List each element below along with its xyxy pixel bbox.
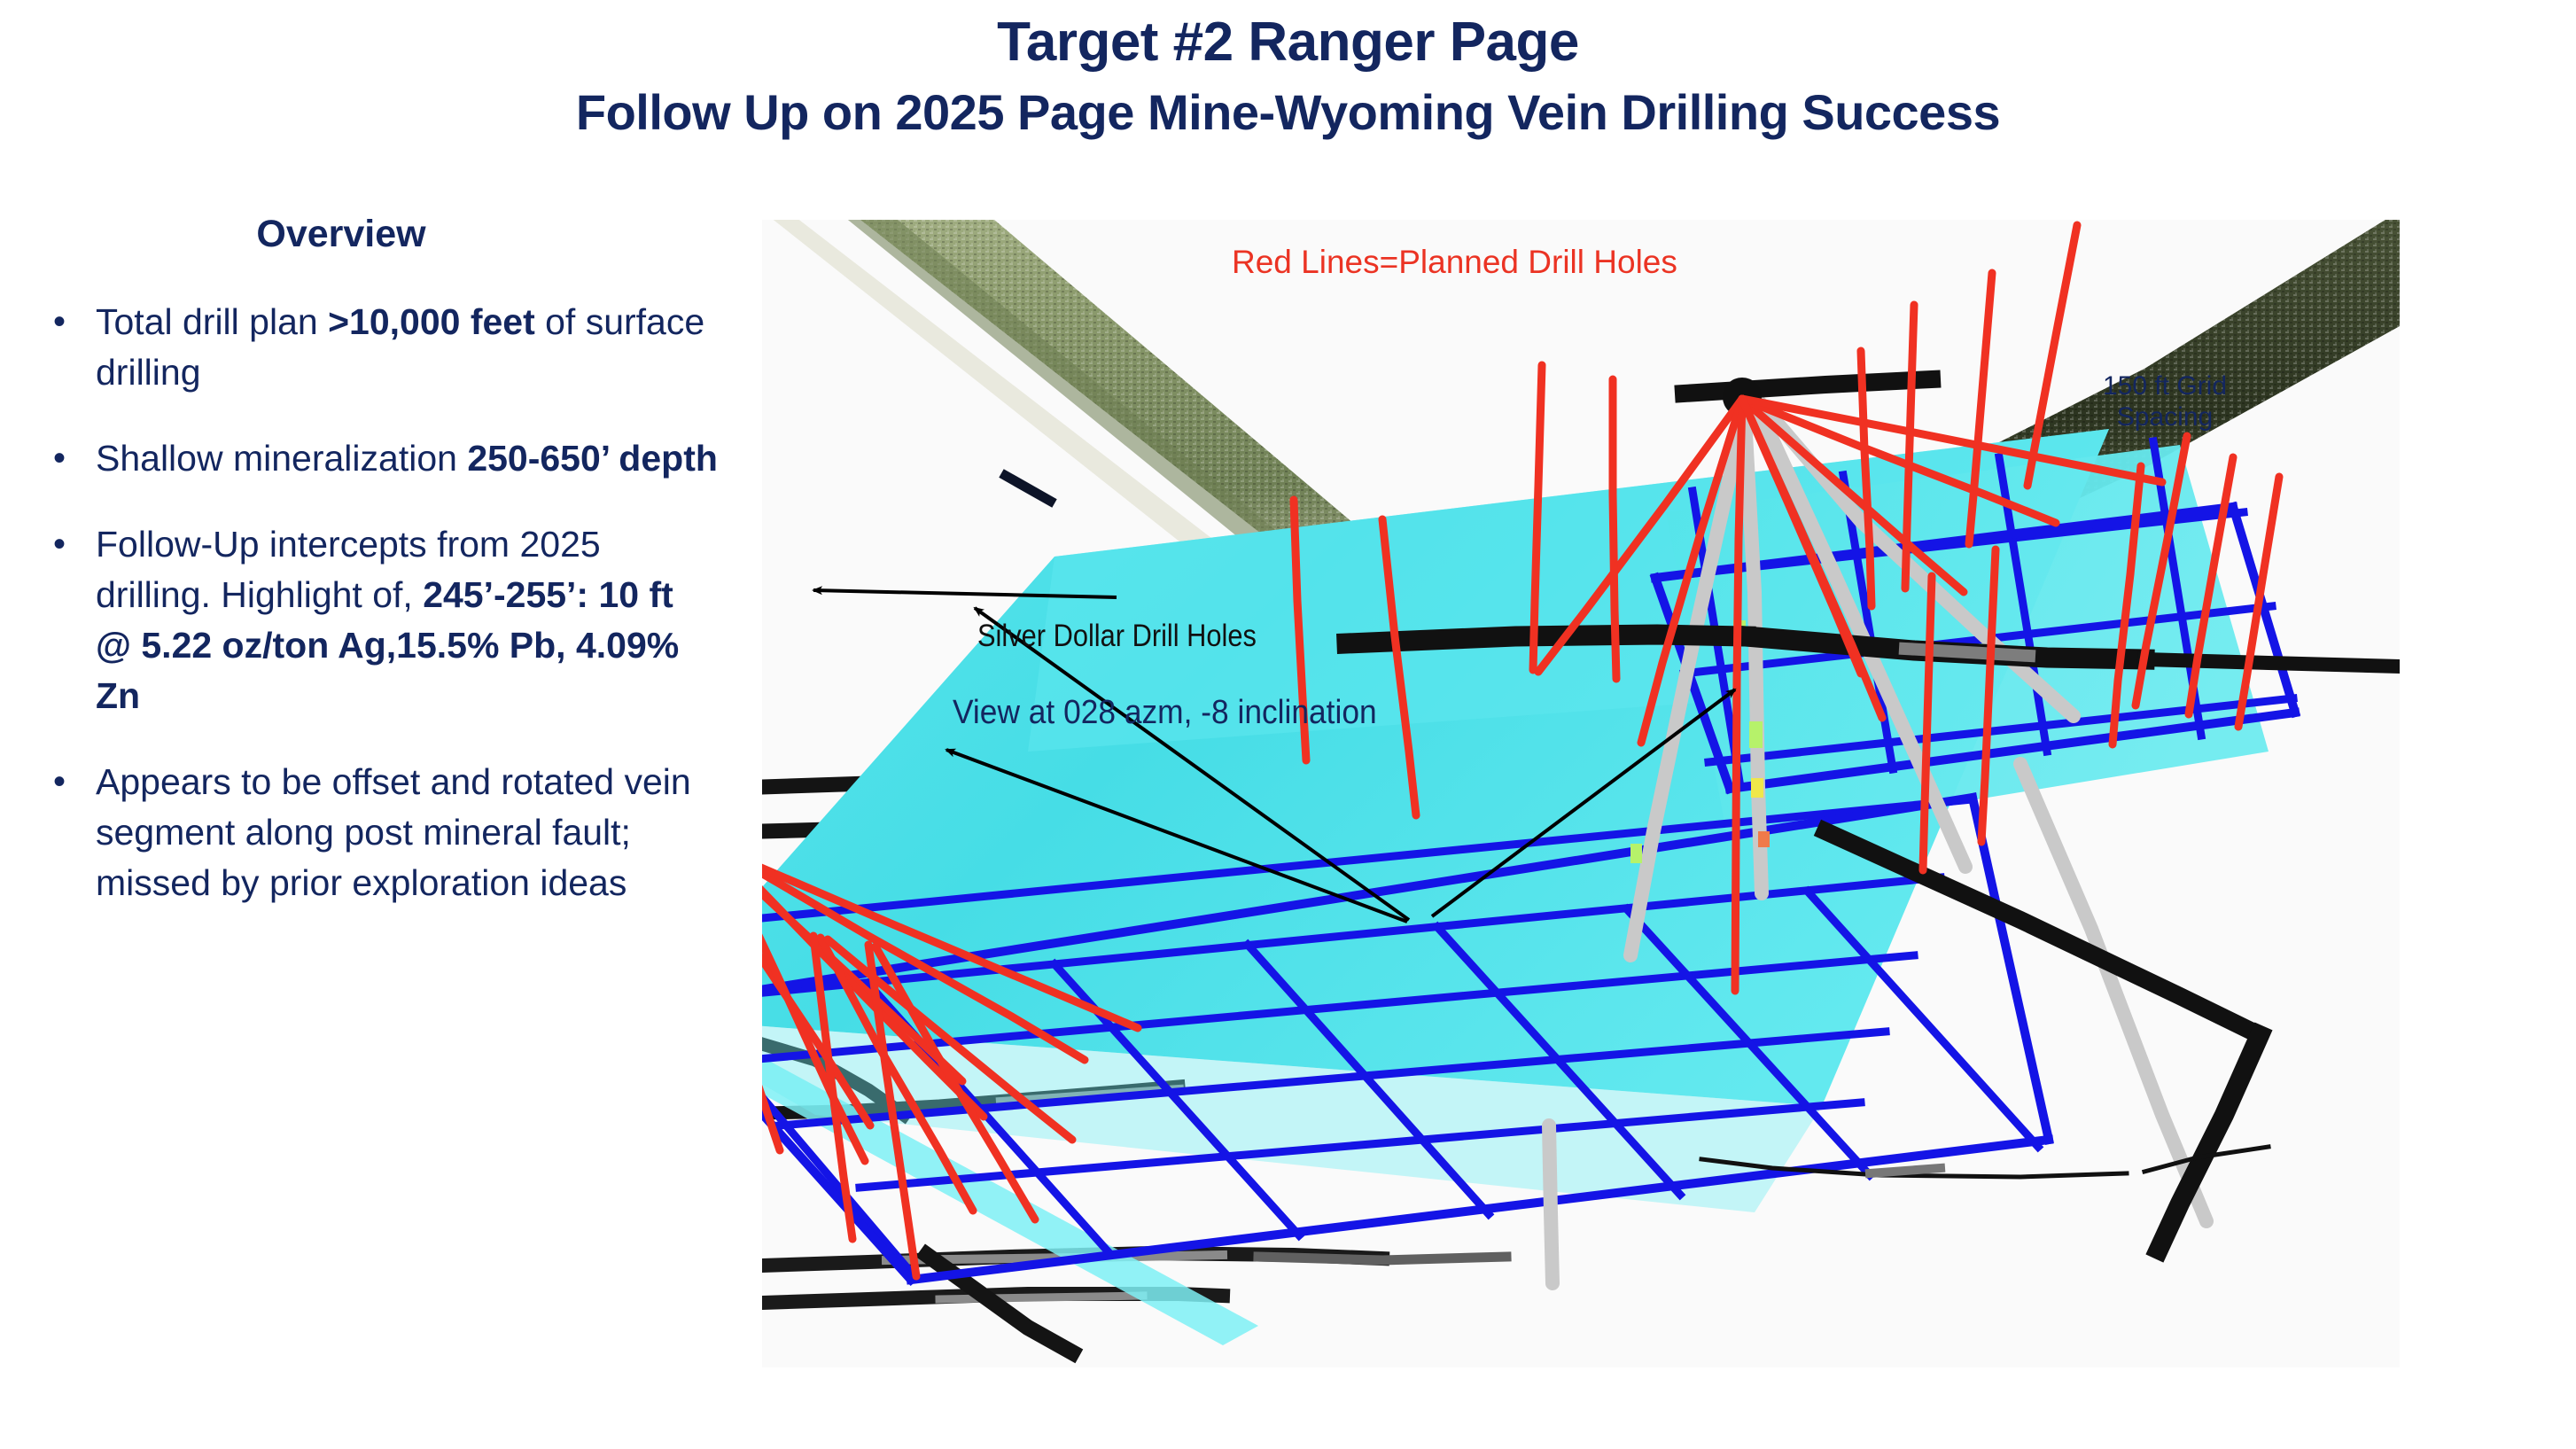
overview-bullet-3: •Follow-Up intercepts from 2025 drilling… (0, 519, 753, 721)
overview-bullet-4: •Appears to be offset and rotated vein s… (0, 757, 753, 908)
bullet-marker-icon: • (53, 519, 96, 569)
overview-column: Overview •Total drill plan >10,000 feet … (0, 213, 753, 944)
overview-bullet-text: Total drill plan >10,000 feet of surface… (96, 297, 753, 398)
bullet-marker-icon: • (53, 757, 96, 806)
overview-heading: Overview (0, 213, 753, 256)
drill-plan-figure: Red Lines=Planned Drill Holes 150 ft Gri… (762, 220, 2400, 1367)
overview-bullet-text: Follow-Up intercepts from 2025 drilling.… (96, 519, 753, 721)
bullet-marker-icon: • (53, 433, 96, 483)
bullet-marker-icon: • (53, 297, 96, 347)
overview-bullet-1: •Total drill plan >10,000 feet of surfac… (0, 297, 753, 398)
page-subtitle: Follow Up on 2025 Page Mine-Wyoming Vein… (0, 82, 2576, 142)
page-title: Target #2 Ranger Page (0, 11, 2576, 74)
overview-bullet-list: •Total drill plan >10,000 feet of surfac… (0, 297, 753, 908)
three-d-scene (762, 220, 2400, 1367)
overview-bullet-2: •Shallow mineralization 250-650’ depth (0, 433, 753, 484)
overview-bullet-text: Appears to be offset and rotated vein se… (96, 757, 753, 908)
overview-bullet-text: Shallow mineralization 250-650’ depth (96, 433, 753, 484)
slide-title-block: Target #2 Ranger Page Follow Up on 2025 … (0, 0, 2576, 142)
